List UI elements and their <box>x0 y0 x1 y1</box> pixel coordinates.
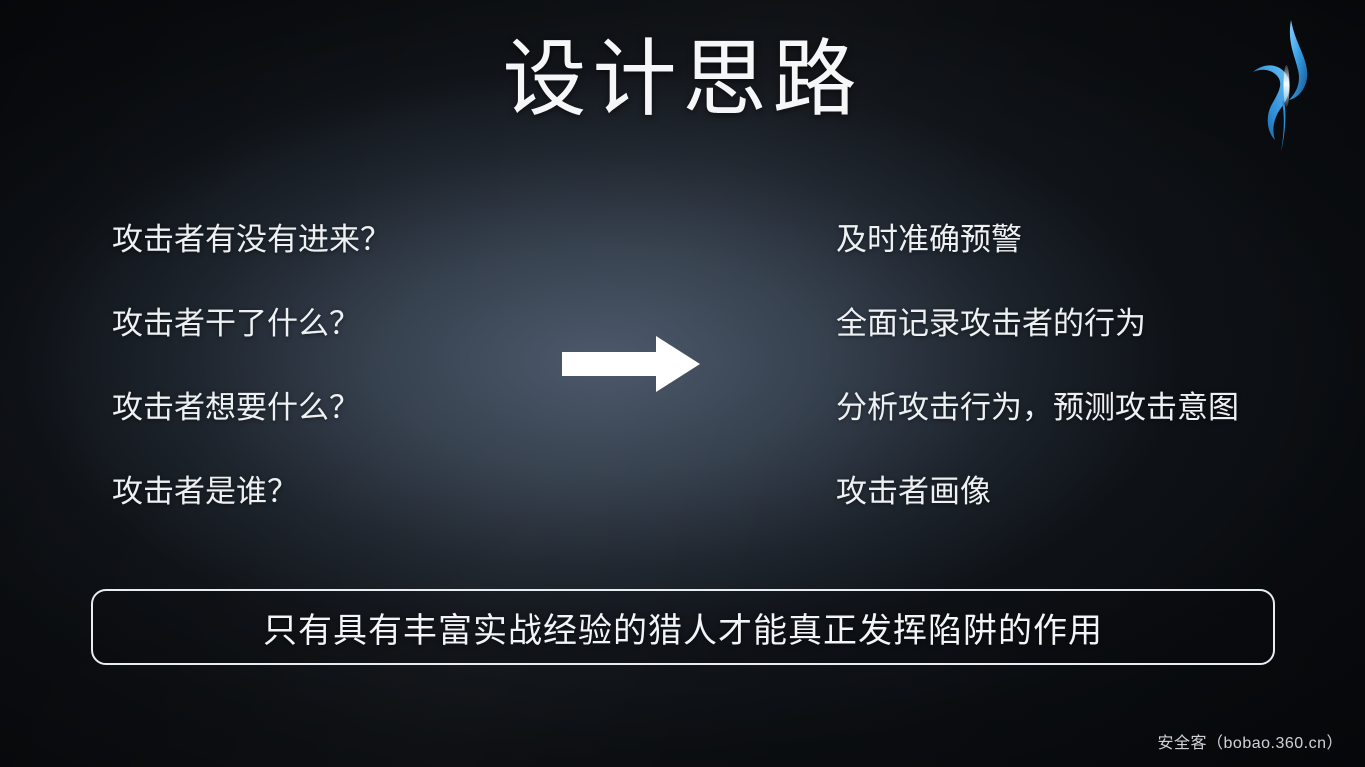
answers-column: 及时准确预警 全面记录攻击者的行为 分析攻击行为，预测攻击意图 攻击者画像 <box>836 222 1306 558</box>
answer-item: 及时准确预警 <box>836 222 1306 306</box>
question-item: 攻击者有没有进来？ <box>112 222 532 306</box>
answer-item: 全面记录攻击者的行为 <box>836 306 1306 390</box>
question-item: 攻击者想要什么？ <box>112 390 532 474</box>
question-item: 攻击者是谁？ <box>112 474 532 558</box>
page-title: 设计思路 <box>0 34 1365 128</box>
slide-canvas: 设计思路 <box>0 0 1365 767</box>
footer-watermark: 安全客（bobao.360.cn） <box>1158 729 1343 753</box>
answer-item: 攻击者画像 <box>836 474 1306 558</box>
question-item: 攻击者干了什么？ <box>112 306 532 390</box>
right-arrow-icon <box>562 336 700 392</box>
conclusion-banner-text: 只有具有丰富实战经验的猎人才能真正发挥陷阱的作用 <box>263 603 1103 652</box>
blue-flame-logo-icon <box>1245 12 1325 162</box>
conclusion-banner: 只有具有丰富实战经验的猎人才能真正发挥陷阱的作用 <box>91 589 1275 665</box>
answer-item: 分析攻击行为，预测攻击意图 <box>836 390 1306 474</box>
questions-column: 攻击者有没有进来？ 攻击者干了什么？ 攻击者想要什么？ 攻击者是谁？ <box>112 222 532 558</box>
